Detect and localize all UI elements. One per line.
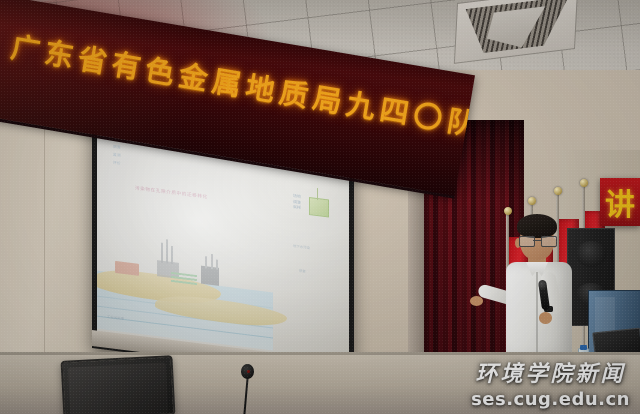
- table-edge: [0, 352, 640, 355]
- lecture-photo: 污染源 迁移途 受体 暴露 风险评估 调查 监测 评价 污染物在孔隙介质中的迁移…: [0, 0, 640, 414]
- microphone-stem: [243, 376, 248, 414]
- right-hand: [539, 312, 552, 324]
- wall-seam: [44, 86, 45, 376]
- wall-sign-character: 讲: [605, 180, 635, 224]
- microphone-mesh-icon: [538, 280, 547, 291]
- chair-backrest: [68, 362, 169, 414]
- desk-microphone: [232, 364, 258, 414]
- microphone-indicator: [247, 370, 250, 373]
- lens-left: [519, 236, 535, 247]
- watermark: 环境学院新闻 ses.cug.edu.cn: [471, 356, 630, 410]
- shirt: [506, 262, 572, 358]
- flag-finial-icon: [580, 179, 588, 187]
- wall-sign-jiang: 讲: [600, 178, 640, 226]
- watermark-url: ses.cug.edu.cn: [471, 389, 630, 410]
- flag-finial-icon: [554, 187, 562, 195]
- eyeglasses-icon: [519, 236, 555, 245]
- glasses-bridge: [533, 240, 541, 241]
- watermark-chinese: 环境学院新闻: [471, 356, 630, 388]
- flag-finial-icon: [528, 197, 536, 205]
- chair: [61, 355, 176, 414]
- left-hand: [470, 296, 483, 306]
- lens-right: [541, 236, 557, 247]
- hair: [517, 214, 557, 238]
